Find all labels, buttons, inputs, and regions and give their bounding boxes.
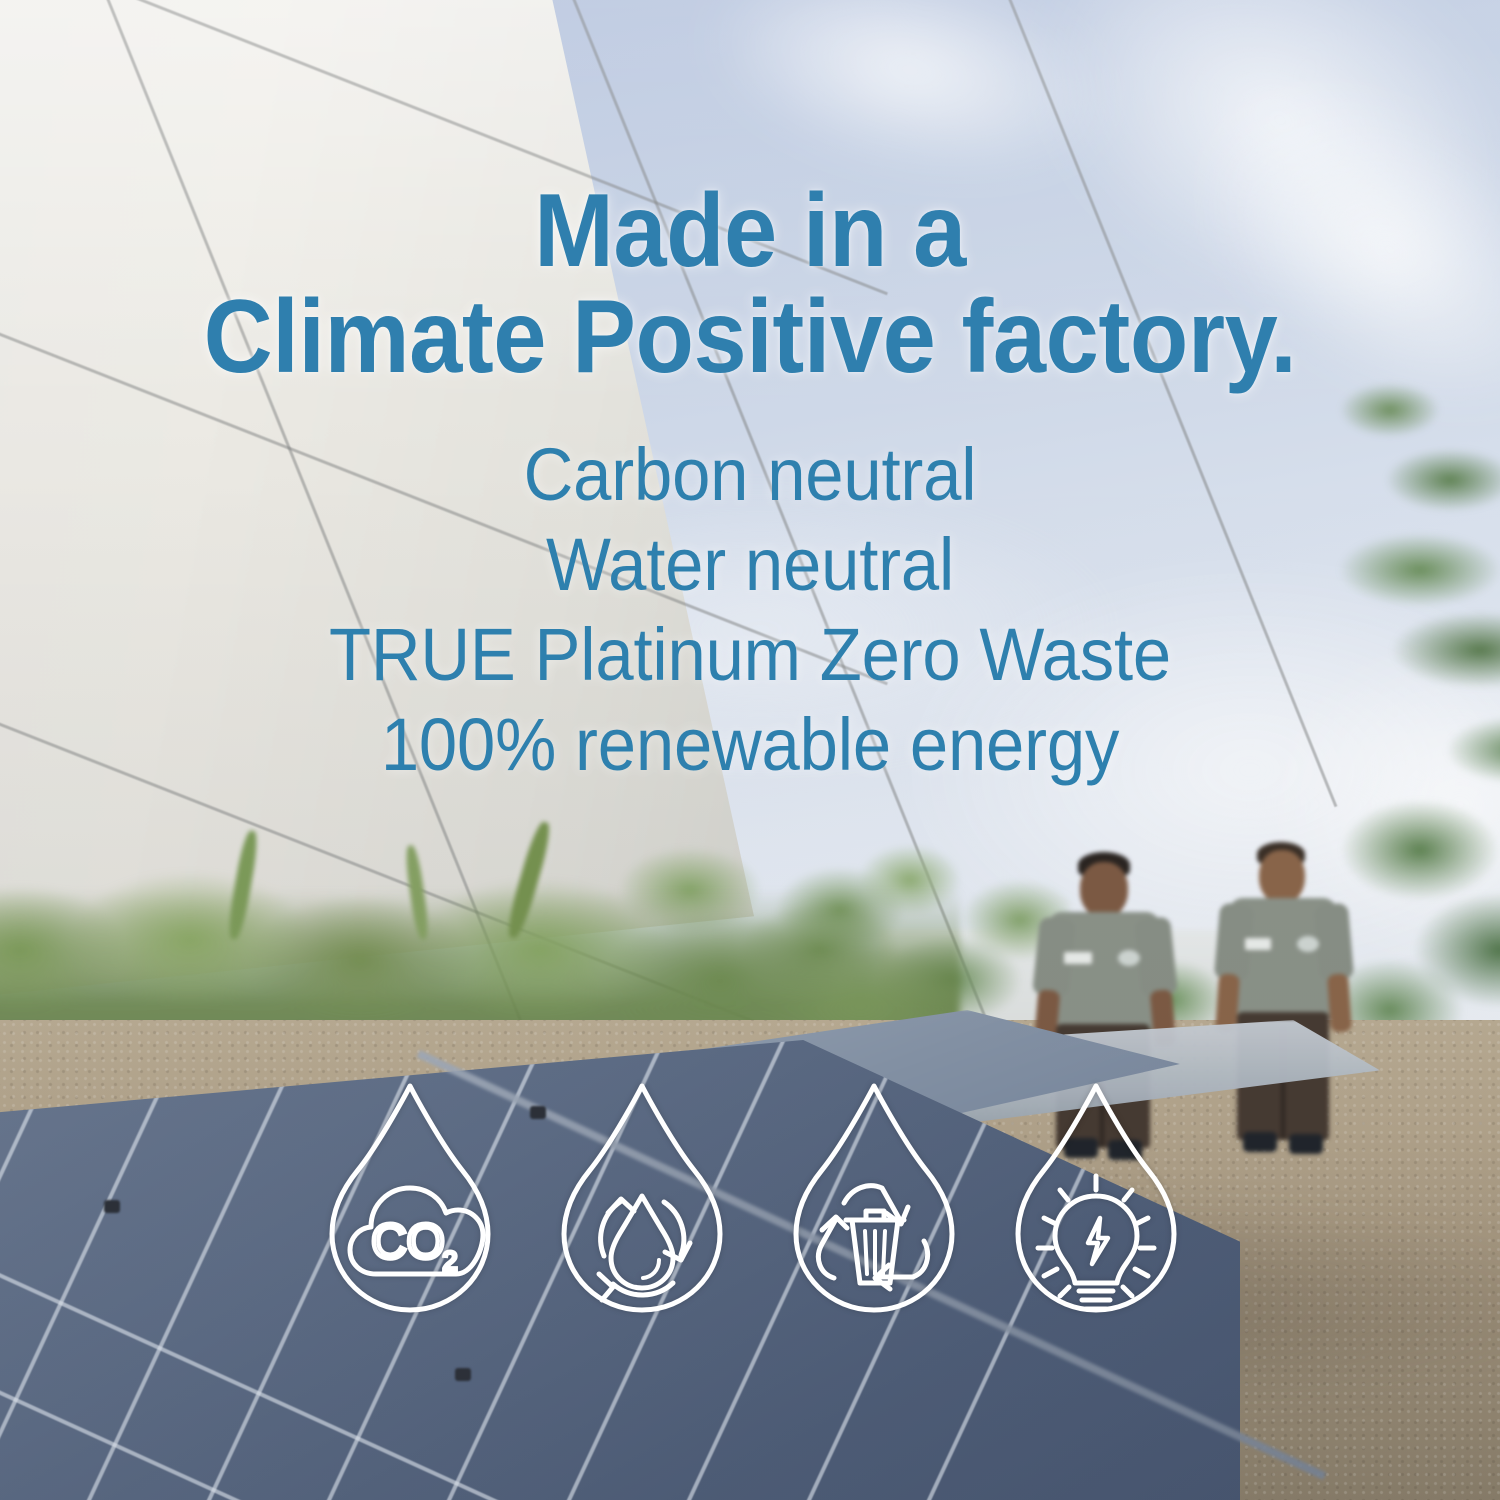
water-recycle-droplet-icon	[542, 1078, 742, 1328]
worker-right	[1215, 842, 1365, 1162]
zero-waste-recycle-droplet-icon	[774, 1078, 974, 1328]
claim-water-neutral: Water neutral	[53, 522, 1448, 607]
promo-image: Made in a Climate Positive factory. Carb…	[0, 0, 1500, 1500]
headline-line-2: Climate Positive factory.	[60, 288, 1440, 387]
renewable-energy-bulb-droplet-icon	[996, 1078, 1196, 1328]
co2-cloud-droplet-icon: CO 2	[310, 1078, 510, 1328]
claim-renewable-energy: 100% renewable energy	[53, 702, 1448, 787]
co2-label: CO	[371, 1215, 445, 1269]
sustainability-icon-row: CO 2	[296, 1078, 1206, 1328]
panel-clamp	[104, 1200, 120, 1213]
headline-line-1: Made in a	[60, 182, 1440, 281]
claim-carbon-neutral: Carbon neutral	[53, 432, 1448, 517]
co2-subscript: 2	[442, 1246, 457, 1276]
panel-clamp	[455, 1368, 471, 1381]
claim-zero-waste: TRUE Platinum Zero Waste	[53, 612, 1448, 697]
